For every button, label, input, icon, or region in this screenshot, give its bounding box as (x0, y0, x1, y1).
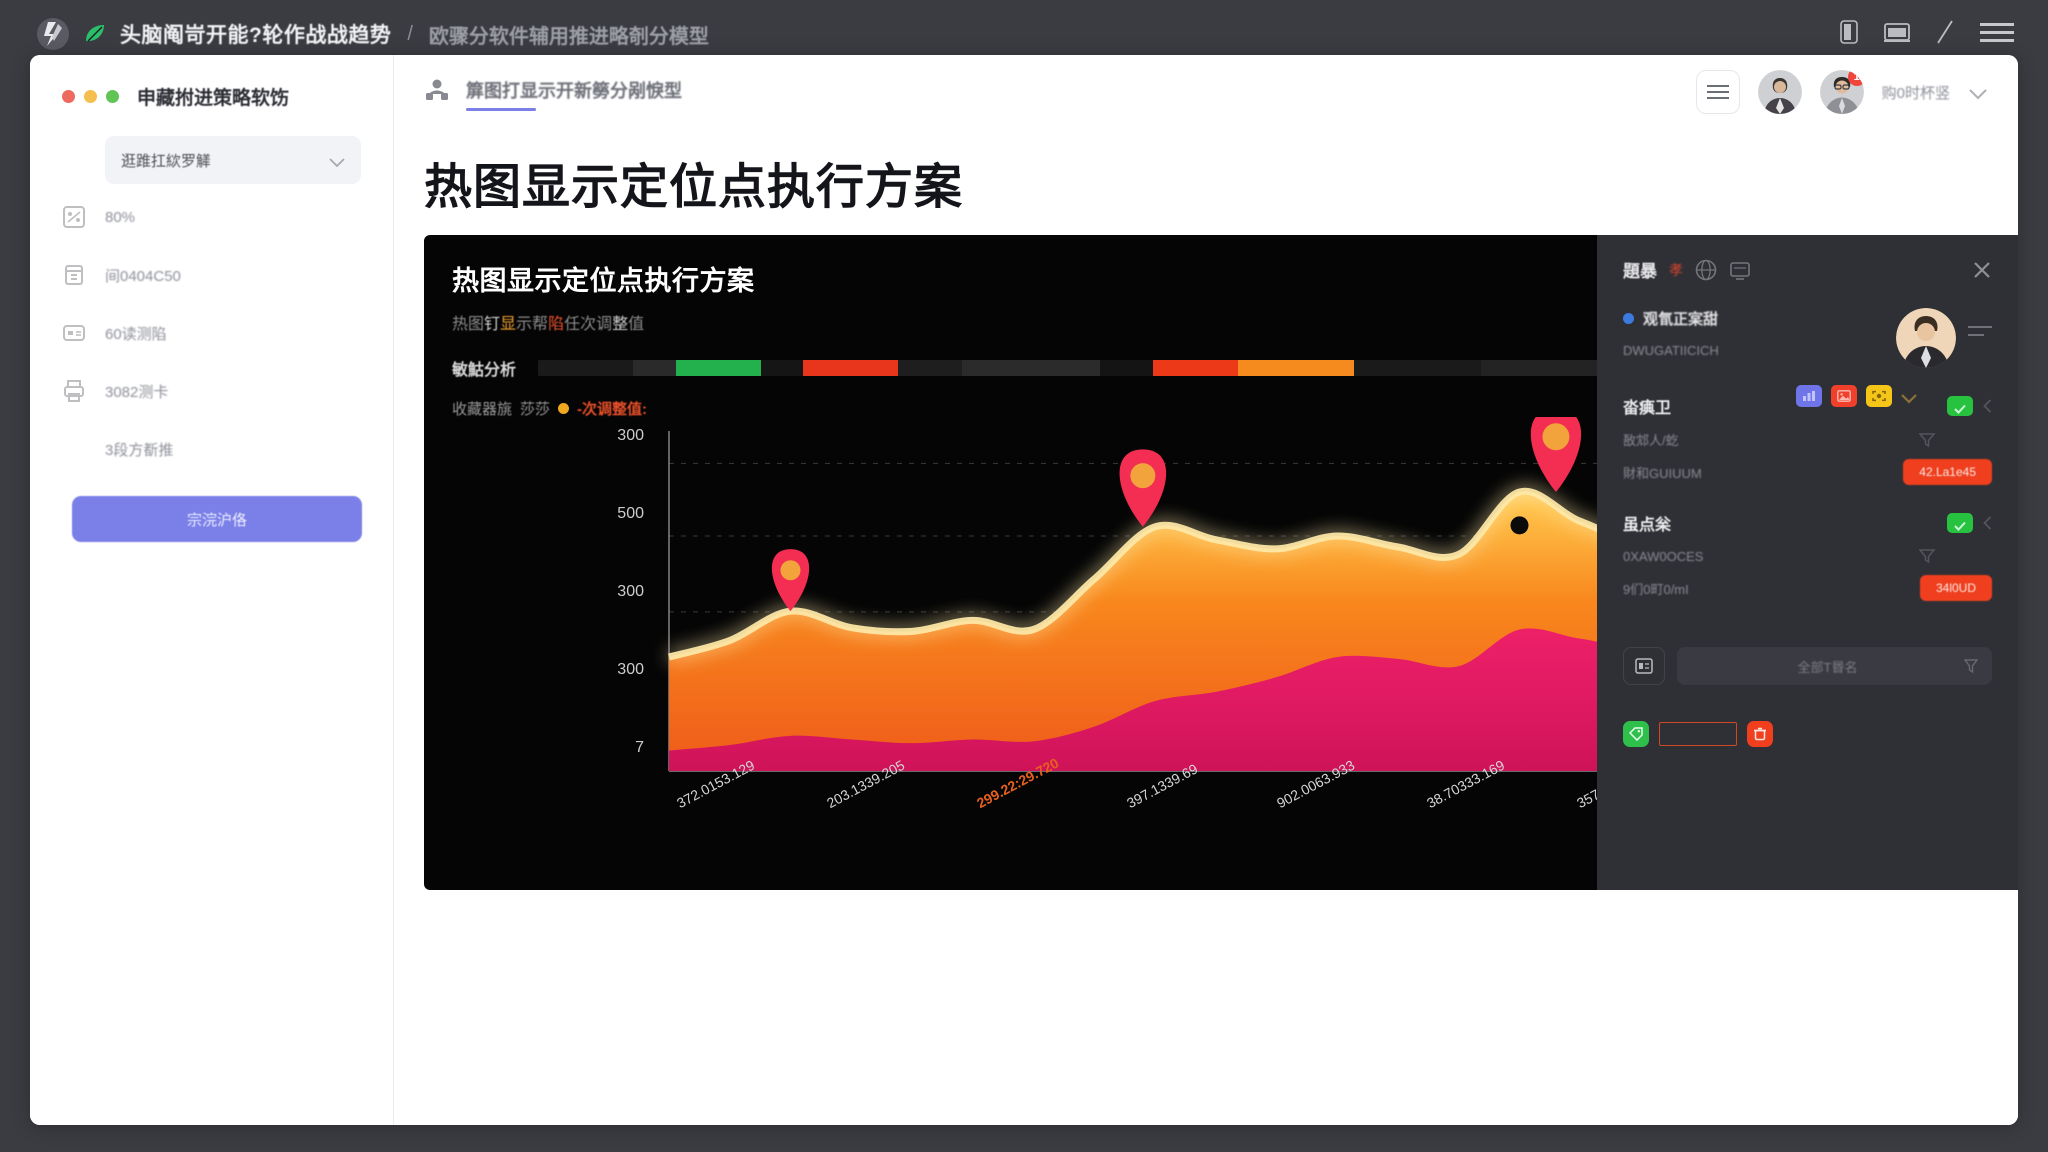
left-sidebar: 申藏拊进策略软饬 逛踓扛絘罗觲 80% 间0404C50 (30, 55, 394, 1125)
right-panel-badge: 孝 (1669, 260, 1683, 280)
strip-segment (1100, 360, 1153, 376)
item-action-button[interactable]: 42.La1e45 (1903, 459, 1992, 485)
right-panel-item-0[interactable]: 畓痶卫 敔邥人/虼 (1623, 394, 1992, 485)
legend-text-b: 莎莎 (520, 398, 550, 419)
sidebar-window-title: 申藏拊进策略软饬 (137, 83, 289, 110)
chevron-down-icon[interactable] (1968, 87, 1984, 97)
sidebar-item-0[interactable]: 80% (62, 192, 361, 242)
chart-blue-button[interactable] (1796, 385, 1822, 407)
search-input[interactable]: 全部T昬名 (1677, 647, 1992, 685)
right-panel-user[interactable]: 观氜正宲甜 DWUGATIICICH (1623, 308, 1992, 368)
chart-toolbar (1796, 385, 1917, 407)
y-axis-tick: 300 (584, 427, 644, 445)
item-sub-1: 敔邥人/虼 (1623, 430, 1679, 449)
right-panel: 題暴 孝 观氜正宲甜 (1597, 235, 2018, 890)
chart-yellow-button[interactable] (1866, 385, 1892, 407)
sidebar-item-4[interactable]: 3段方斱推 (62, 424, 361, 474)
right-panel-title: 題暴 (1623, 257, 1657, 282)
hamburger-icon[interactable] (1980, 20, 2014, 49)
status-dot-icon (1623, 313, 1634, 324)
main-content: 箳图打显示开新簩分剐悷型 (394, 55, 2018, 1125)
strip-segment (803, 360, 898, 376)
chart-marker-dot[interactable] (1511, 516, 1529, 534)
sidebar-item-2[interactable]: 60读测陷 (62, 308, 361, 358)
chevron-down-icon (329, 155, 345, 165)
item-row-1: 敔邥人/虼 (1623, 430, 1992, 449)
strip-segment (676, 360, 761, 376)
item-sub-2: 9们0町0/mI (1623, 579, 1689, 598)
item-row-2: 財和GUIUUM 42.La1e45 (1623, 459, 1992, 485)
sidebar-item-3[interactable]: 3082测卡 (62, 366, 361, 416)
y-axis-tick: 300 (584, 661, 644, 679)
item-title: 畓痶卫 (1623, 394, 1671, 418)
database-icon (62, 263, 86, 287)
right-panel-search-row: 全部T昬名 (1623, 647, 1992, 685)
item-header: 虽点枀 (1623, 511, 1992, 535)
legend-text-c: -次调整值: (577, 398, 647, 419)
topbar-title: 头脑阄岢开能?轮作战战趋势 (120, 19, 391, 49)
window-icon[interactable] (1884, 21, 1910, 48)
user-block-icon (424, 77, 450, 103)
strip-segment (962, 360, 1100, 376)
topbar-actions (1840, 19, 2022, 50)
close-icon[interactable] (1972, 260, 1992, 280)
chart-red-button[interactable] (1831, 385, 1857, 407)
notification-badge: 1 (1848, 70, 1864, 86)
minimize-traffic-dot[interactable] (84, 90, 97, 103)
filter-icon (1918, 547, 1936, 565)
print-icon (62, 379, 86, 403)
user-meta-lines (1968, 308, 1992, 342)
avatar[interactable] (1758, 70, 1802, 114)
tab-active-underline (466, 108, 536, 111)
check-icon (1954, 518, 1966, 528)
avatar[interactable]: 1 (1820, 70, 1864, 114)
search-placeholder: 全部T昬名 (1691, 657, 1964, 676)
right-panel-item-1[interactable]: 虽点枀 0XAW0OCES (1623, 511, 1992, 601)
avatar[interactable] (1896, 308, 1956, 368)
meta-line (1968, 326, 1992, 328)
chevron-right-icon[interactable] (1983, 516, 1992, 530)
strip-segment (633, 360, 675, 376)
leaf-icon (82, 21, 108, 47)
chevron-right-icon[interactable] (1983, 399, 1992, 413)
globe-icon[interactable] (1695, 259, 1717, 281)
item-row-1: 0XAW0OCES (1623, 547, 1992, 565)
analysis-strip-label: 敏鮕分析 (452, 356, 516, 380)
page-title: 热图显示定位点执行方案 (394, 129, 2018, 217)
menu-button[interactable] (1696, 70, 1740, 114)
right-panel-user-title-row: 观氜正宲甜 (1623, 308, 1886, 329)
analysis-progress-strip[interactable] (538, 360, 1598, 376)
app-logo-icon (36, 17, 70, 51)
sidebar-select[interactable]: 逛踓扛絘罗觲 (105, 136, 361, 184)
right-panel-user-name: 观氜正宲甜 (1643, 308, 1718, 329)
status-badge[interactable] (1947, 396, 1973, 416)
main-header-actions: 1 购0时杯竖 (1696, 70, 1984, 114)
item-row-2: 9们0町0/mI 34l0UD (1623, 575, 1992, 601)
grid-icon (62, 205, 86, 229)
map-pin-marker[interactable] (772, 549, 809, 611)
close-traffic-dot[interactable] (62, 90, 75, 103)
sidebar-item-1[interactable]: 间0404C50 (62, 250, 361, 300)
filter-icon[interactable] (1964, 658, 1978, 674)
legend-dot-icon (558, 403, 569, 414)
strip-segment (1153, 360, 1238, 376)
strip-segment (1481, 360, 1598, 376)
tablet-icon[interactable] (1840, 20, 1858, 49)
sidebar-item-label: 间0404C50 (105, 265, 181, 286)
item-action-button[interactable]: 34l0UD (1920, 575, 1992, 601)
sidebar-item-label: 3段方斱推 (105, 439, 173, 460)
inline-input[interactable] (1659, 722, 1737, 746)
slash-icon[interactable] (1936, 19, 1954, 50)
pin-center (1130, 463, 1155, 488)
strip-segment (761, 360, 803, 376)
right-panel-user-info: 观氜正宲甜 DWUGATIICICH (1623, 308, 1886, 358)
item-sub-2: 財和GUIUUM (1623, 463, 1702, 482)
sidebar-item-label: 3082测卡 (105, 381, 168, 402)
right-panel-user-sub: DWUGATIICICH (1623, 343, 1886, 358)
user-name-label: 购0时杯竖 (1882, 82, 1950, 103)
sidebar-select-value: 逛踓扛絘罗觲 (121, 150, 329, 171)
status-badge[interactable] (1947, 513, 1973, 533)
right-panel-header: 題暴 孝 (1623, 257, 1992, 282)
tab-label: 箳图打显示开新簩分剐悷型 (466, 77, 682, 103)
strip-segment (1238, 360, 1355, 376)
pin-center (781, 560, 801, 580)
maximize-traffic-dot[interactable] (106, 90, 119, 103)
pin-center (1542, 423, 1569, 450)
app-window: 申藏拊进策略软饬 逛踓扛絘罗觲 80% 间0404C50 (30, 55, 2018, 1125)
chevron-down-icon[interactable] (1901, 391, 1917, 401)
strip-segment (898, 360, 962, 376)
main-header: 箳图打显示开新簩分剐悷型 (394, 55, 2018, 129)
card-icon (62, 321, 86, 345)
tag-icon[interactable] (1623, 721, 1649, 747)
delete-icon[interactable] (1747, 721, 1773, 747)
strip-segment (1354, 360, 1481, 376)
breadcrumb-separator: / (407, 23, 413, 46)
app-root: 头脑阄岢开能?轮作战战趋势 / 欧骤分软件辅用推进略剞分模型 (0, 0, 2048, 1152)
legend-text-a: 收藏器旐 (452, 398, 512, 419)
meta-line (1968, 334, 1984, 336)
check-icon (1954, 401, 1966, 411)
window-traffic-lights: 申藏拊进策略软饬 (62, 83, 361, 110)
y-axis-tick: 7 (584, 739, 644, 757)
tab-active[interactable]: 箳图打显示开新簩分剐悷型 (424, 77, 682, 107)
monitor-icon[interactable] (1729, 259, 1751, 281)
y-axis-tick: 300 (584, 583, 644, 601)
sidebar-primary-button[interactable]: 宗浣沪佫 (72, 496, 362, 542)
item-sub-1: 0XAW0OCES (1623, 549, 1703, 564)
filter-icon (1918, 431, 1936, 449)
map-pin-marker[interactable] (1531, 417, 1581, 492)
sidebar-item-label: 80% (105, 209, 135, 226)
topbar-subtitle: 欧骤分软件辅用推进略剞分模型 (429, 20, 709, 49)
strip-segment (538, 360, 633, 376)
y-axis-tick: 500 (584, 505, 644, 523)
grid-icon[interactable] (1623, 647, 1665, 685)
right-panel-bottom-row (1623, 721, 1992, 747)
item-title: 虽点枀 (1623, 511, 1671, 535)
sidebar-item-label: 60读测陷 (105, 323, 167, 344)
map-pin-marker[interactable] (1120, 449, 1167, 527)
